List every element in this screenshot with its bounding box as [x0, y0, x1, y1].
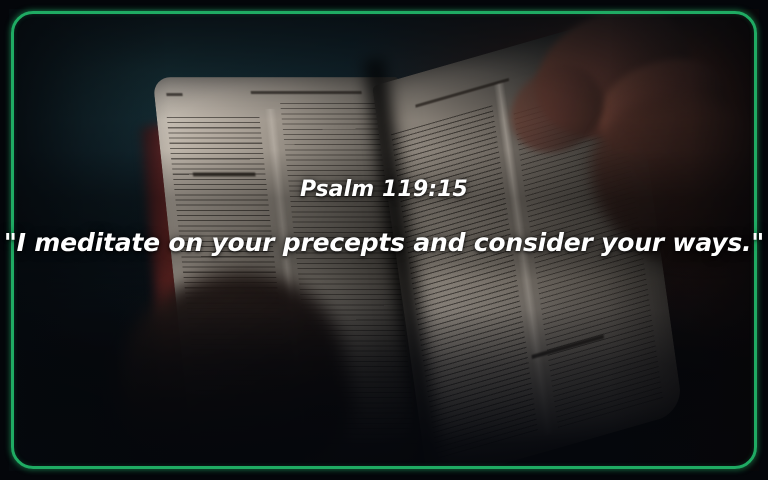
verse-reference: Psalm 119:15: [0, 178, 768, 202]
verse-card: Psalm 119:15 "I meditate on your precept…: [0, 0, 768, 480]
verse-quote-text: "I meditate on your precepts and conside…: [0, 229, 768, 258]
verse-block: Psalm 119:15 "I meditate on your precept…: [0, 178, 768, 258]
